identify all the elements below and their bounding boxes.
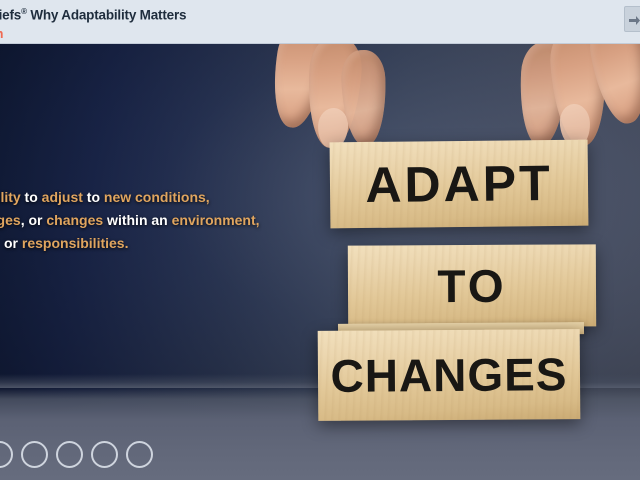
block-label-adapt: ADAPT (365, 158, 553, 210)
wooden-block-to: TO (348, 244, 596, 327)
caption-word: bility (0, 189, 21, 205)
caption-line-3: or responsibilities. (4, 232, 320, 255)
wooden-block-adapt: ADAPT (330, 140, 589, 229)
caption-word: , or (21, 212, 47, 228)
slide-viewer: Briefs® Why Adaptability Matters ion (0, 0, 640, 480)
carousel-dot-5[interactable] (126, 441, 153, 468)
caption-word: environment, (172, 212, 260, 228)
caption-word: nges (0, 212, 21, 228)
share-arrow-icon[interactable] (624, 6, 640, 32)
page-title-rest: Why Adaptability Matters (27, 8, 187, 23)
block-label-changes: CHANGES (330, 351, 567, 399)
carousel-dot-3[interactable] (56, 441, 83, 468)
caption-word: changes (46, 212, 103, 228)
block-label-to: TO (437, 263, 506, 309)
caption-line-2: nges, or changes within an environment, (0, 209, 320, 232)
carousel-dot-1[interactable] (0, 441, 13, 468)
caption-word: within an (103, 212, 171, 228)
carousel-pagination[interactable] (0, 441, 153, 468)
caption-word: or (4, 235, 22, 251)
caption-word: new conditions, (104, 189, 210, 205)
caption-word: adjust (42, 189, 83, 205)
caption-word: to (83, 189, 104, 205)
article-header: Briefs® Why Adaptability Matters ion (0, 0, 640, 44)
page-title: Briefs® Why Adaptability Matters (0, 3, 186, 24)
slide-image: ADAPT TO CHANGES bility to adjust to new… (0, 44, 640, 480)
page-subtitle: ion (0, 25, 186, 42)
caption-word: to (21, 189, 42, 205)
header-text-group: Briefs® Why Adaptability Matters ion (0, 3, 186, 42)
carousel-dot-2[interactable] (21, 441, 48, 468)
caption-word: responsibilities. (22, 235, 129, 251)
wooden-block-changes: CHANGES (318, 329, 581, 421)
caption-line-1: bility to adjust to new conditions, (0, 186, 320, 209)
slide-caption: bility to adjust to new conditions, nges… (0, 186, 320, 255)
carousel-dot-4[interactable] (91, 441, 118, 468)
page-title-prefix: Briefs (0, 8, 21, 23)
